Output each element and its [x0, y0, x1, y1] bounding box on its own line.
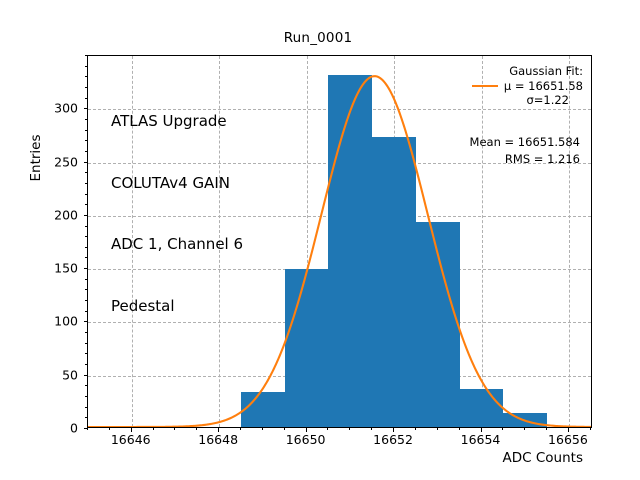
x-tick-mark [568, 428, 569, 432]
x-tick-label: 16654 [461, 432, 501, 447]
histogram-bar [460, 389, 504, 427]
plot-annotation: ATLAS Upgrade COLUTAv4 GAIN ADC 1, Chann… [111, 70, 243, 357]
annotation-line-3: ADC 1, Channel 6 [111, 234, 243, 255]
x-tick-minor [153, 428, 154, 430]
gridline-vertical [482, 56, 483, 427]
x-tick-label: 16650 [286, 432, 326, 447]
x-tick-minor [524, 428, 525, 430]
histogram-bar [241, 392, 285, 427]
legend: Gaussian Fit: μ = 16651.58 σ=1.22 [472, 64, 583, 107]
x-tick-minor [459, 428, 460, 430]
legend-title: Gaussian Fit: [472, 64, 583, 78]
x-tick-minor [284, 428, 285, 430]
x-tick-label: 16648 [198, 432, 238, 447]
legend-sigma-label: σ=1.22 [472, 93, 583, 107]
chart-title: Run_0001 [0, 30, 640, 46]
x-tick-minor [109, 428, 110, 430]
histogram-bar [285, 269, 329, 427]
histogram-bar [416, 222, 460, 427]
x-tick-mark [393, 428, 394, 432]
x-tick-minor [87, 428, 88, 430]
legend-mu-label: μ = 16651.58 [504, 79, 583, 93]
legend-entry-gaussian-fit: μ = 16651.58 [472, 79, 583, 93]
x-tick-mark [131, 428, 132, 432]
x-tick-mark [306, 428, 307, 432]
x-tick-mark [481, 428, 482, 432]
x-tick-label: 16656 [548, 432, 588, 447]
histogram-bar [328, 75, 372, 427]
x-tick-minor [590, 428, 591, 430]
legend-line-swatch-icon [472, 85, 498, 87]
x-tick-minor [349, 428, 350, 430]
gridline-vertical [569, 56, 570, 427]
histogram-bar [372, 137, 416, 427]
chart-title-text: Run_0001 [284, 30, 353, 46]
y-axis-label: Entries [28, 113, 44, 203]
stats-box: Mean = 16651.584 RMS = 1.216 [470, 134, 580, 168]
x-tick-label: 16646 [111, 432, 151, 447]
stats-rms: RMS = 1.216 [470, 151, 580, 168]
x-tick-label: 16652 [373, 432, 413, 447]
x-tick-minor [196, 428, 197, 430]
x-tick-minor [262, 428, 263, 430]
x-tick-minor [174, 428, 175, 430]
plot-area[interactable]: ATLAS Upgrade COLUTAv4 GAIN ADC 1, Chann… [87, 55, 592, 428]
x-tick-minor [437, 428, 438, 430]
x-tick-minor [502, 428, 503, 430]
annotation-line-2: COLUTAv4 GAIN [111, 173, 243, 194]
x-axis-label: ADC Counts [0, 450, 583, 466]
stats-mean: Mean = 16651.584 [470, 134, 580, 151]
x-tick-minor [371, 428, 372, 430]
x-tick-mark [218, 428, 219, 432]
annotation-line-1: ATLAS Upgrade [111, 111, 243, 132]
annotation-line-4: Pedestal [111, 296, 243, 317]
x-tick-minor [415, 428, 416, 430]
x-tick-minor [546, 428, 547, 430]
x-tick-minor [240, 428, 241, 430]
histogram-bar [503, 413, 547, 427]
x-tick-minor [327, 428, 328, 430]
figure-canvas: Run_0001 Entries ADC Counts 050100150200… [0, 0, 640, 480]
